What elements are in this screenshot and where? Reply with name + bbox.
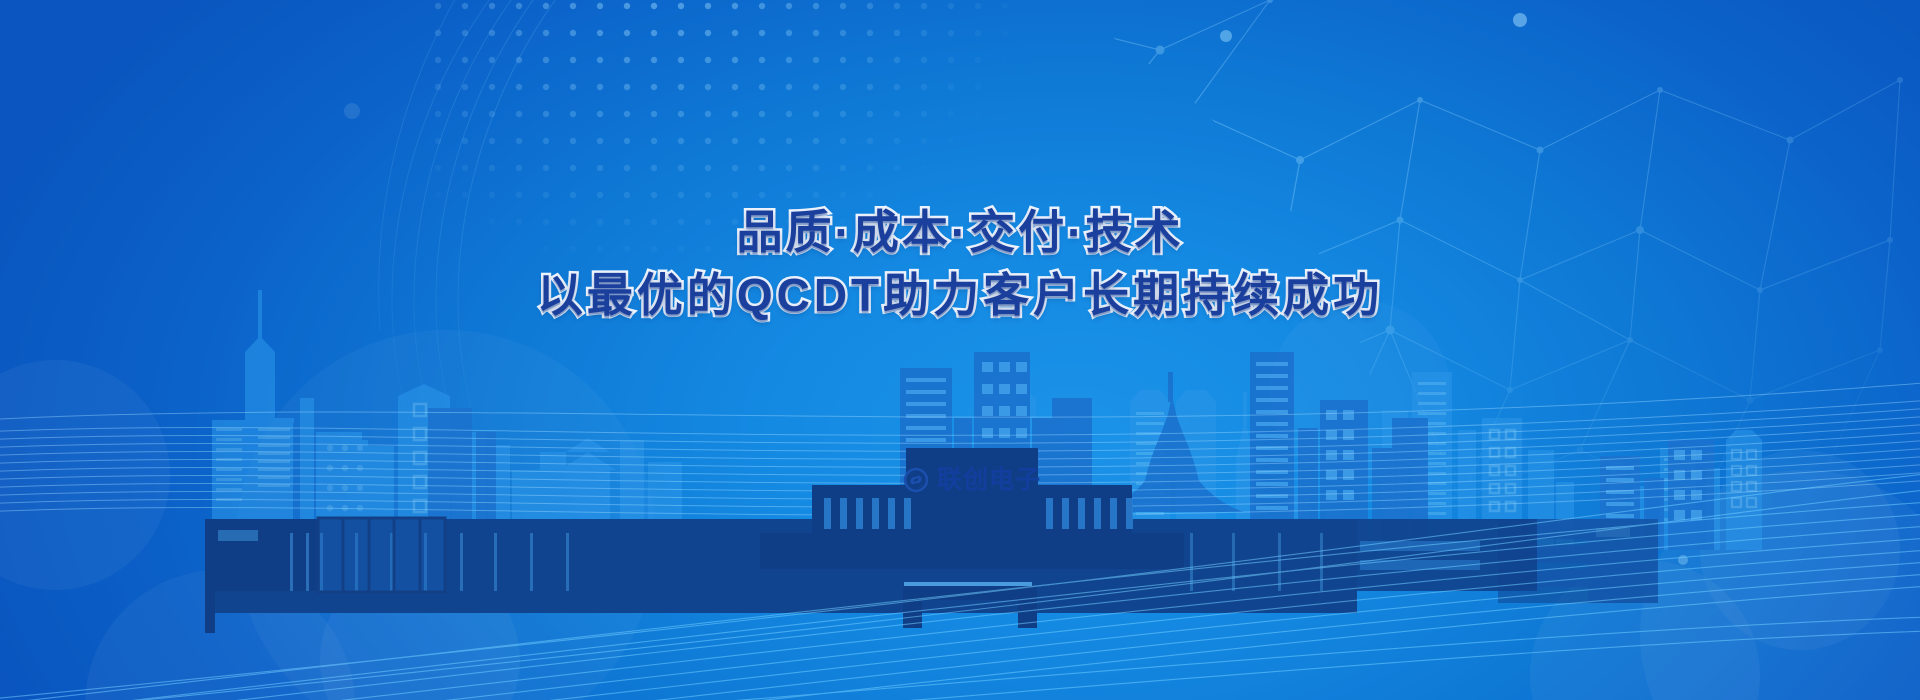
background-bubbles [0, 0, 1920, 700]
brand-logo: 联创电子 [902, 466, 1041, 494]
wave-lines-back [0, 0, 1920, 700]
wave-lines-front [0, 0, 1920, 700]
bubble [85, 570, 355, 700]
bubble [1700, 450, 1900, 650]
bubble [0, 360, 170, 590]
bubble [1530, 560, 1760, 700]
headline-block: 品质·成本·交付·技术 以最优的QCDT助力客户长期持续成功 [0, 205, 1920, 323]
headline-line-1: 品质·成本·交付·技术 [0, 205, 1920, 259]
city-skyline-far [0, 0, 1920, 700]
spiral-swirl-logo-icon [902, 466, 930, 494]
hero-banner: 品质·成本·交付·技术 以最优的QCDT助力客户长期持续成功 联创电子 [0, 0, 1920, 700]
bubble [320, 560, 520, 700]
brand-wordmark: 联创电子 [937, 468, 1041, 493]
halftone-dot-grid [0, 0, 1920, 700]
bubble [1270, 300, 1450, 480]
city-skyline-mid [0, 0, 1920, 700]
headline-line-2: 以最优的QCDT助力客户长期持续成功 [0, 268, 1920, 322]
network-mesh-globe [0, 0, 1920, 700]
foreground-factory-base [0, 0, 1920, 700]
accent-circles [0, 0, 1920, 700]
bubble [236, 330, 656, 700]
bubble [1640, 470, 1920, 700]
